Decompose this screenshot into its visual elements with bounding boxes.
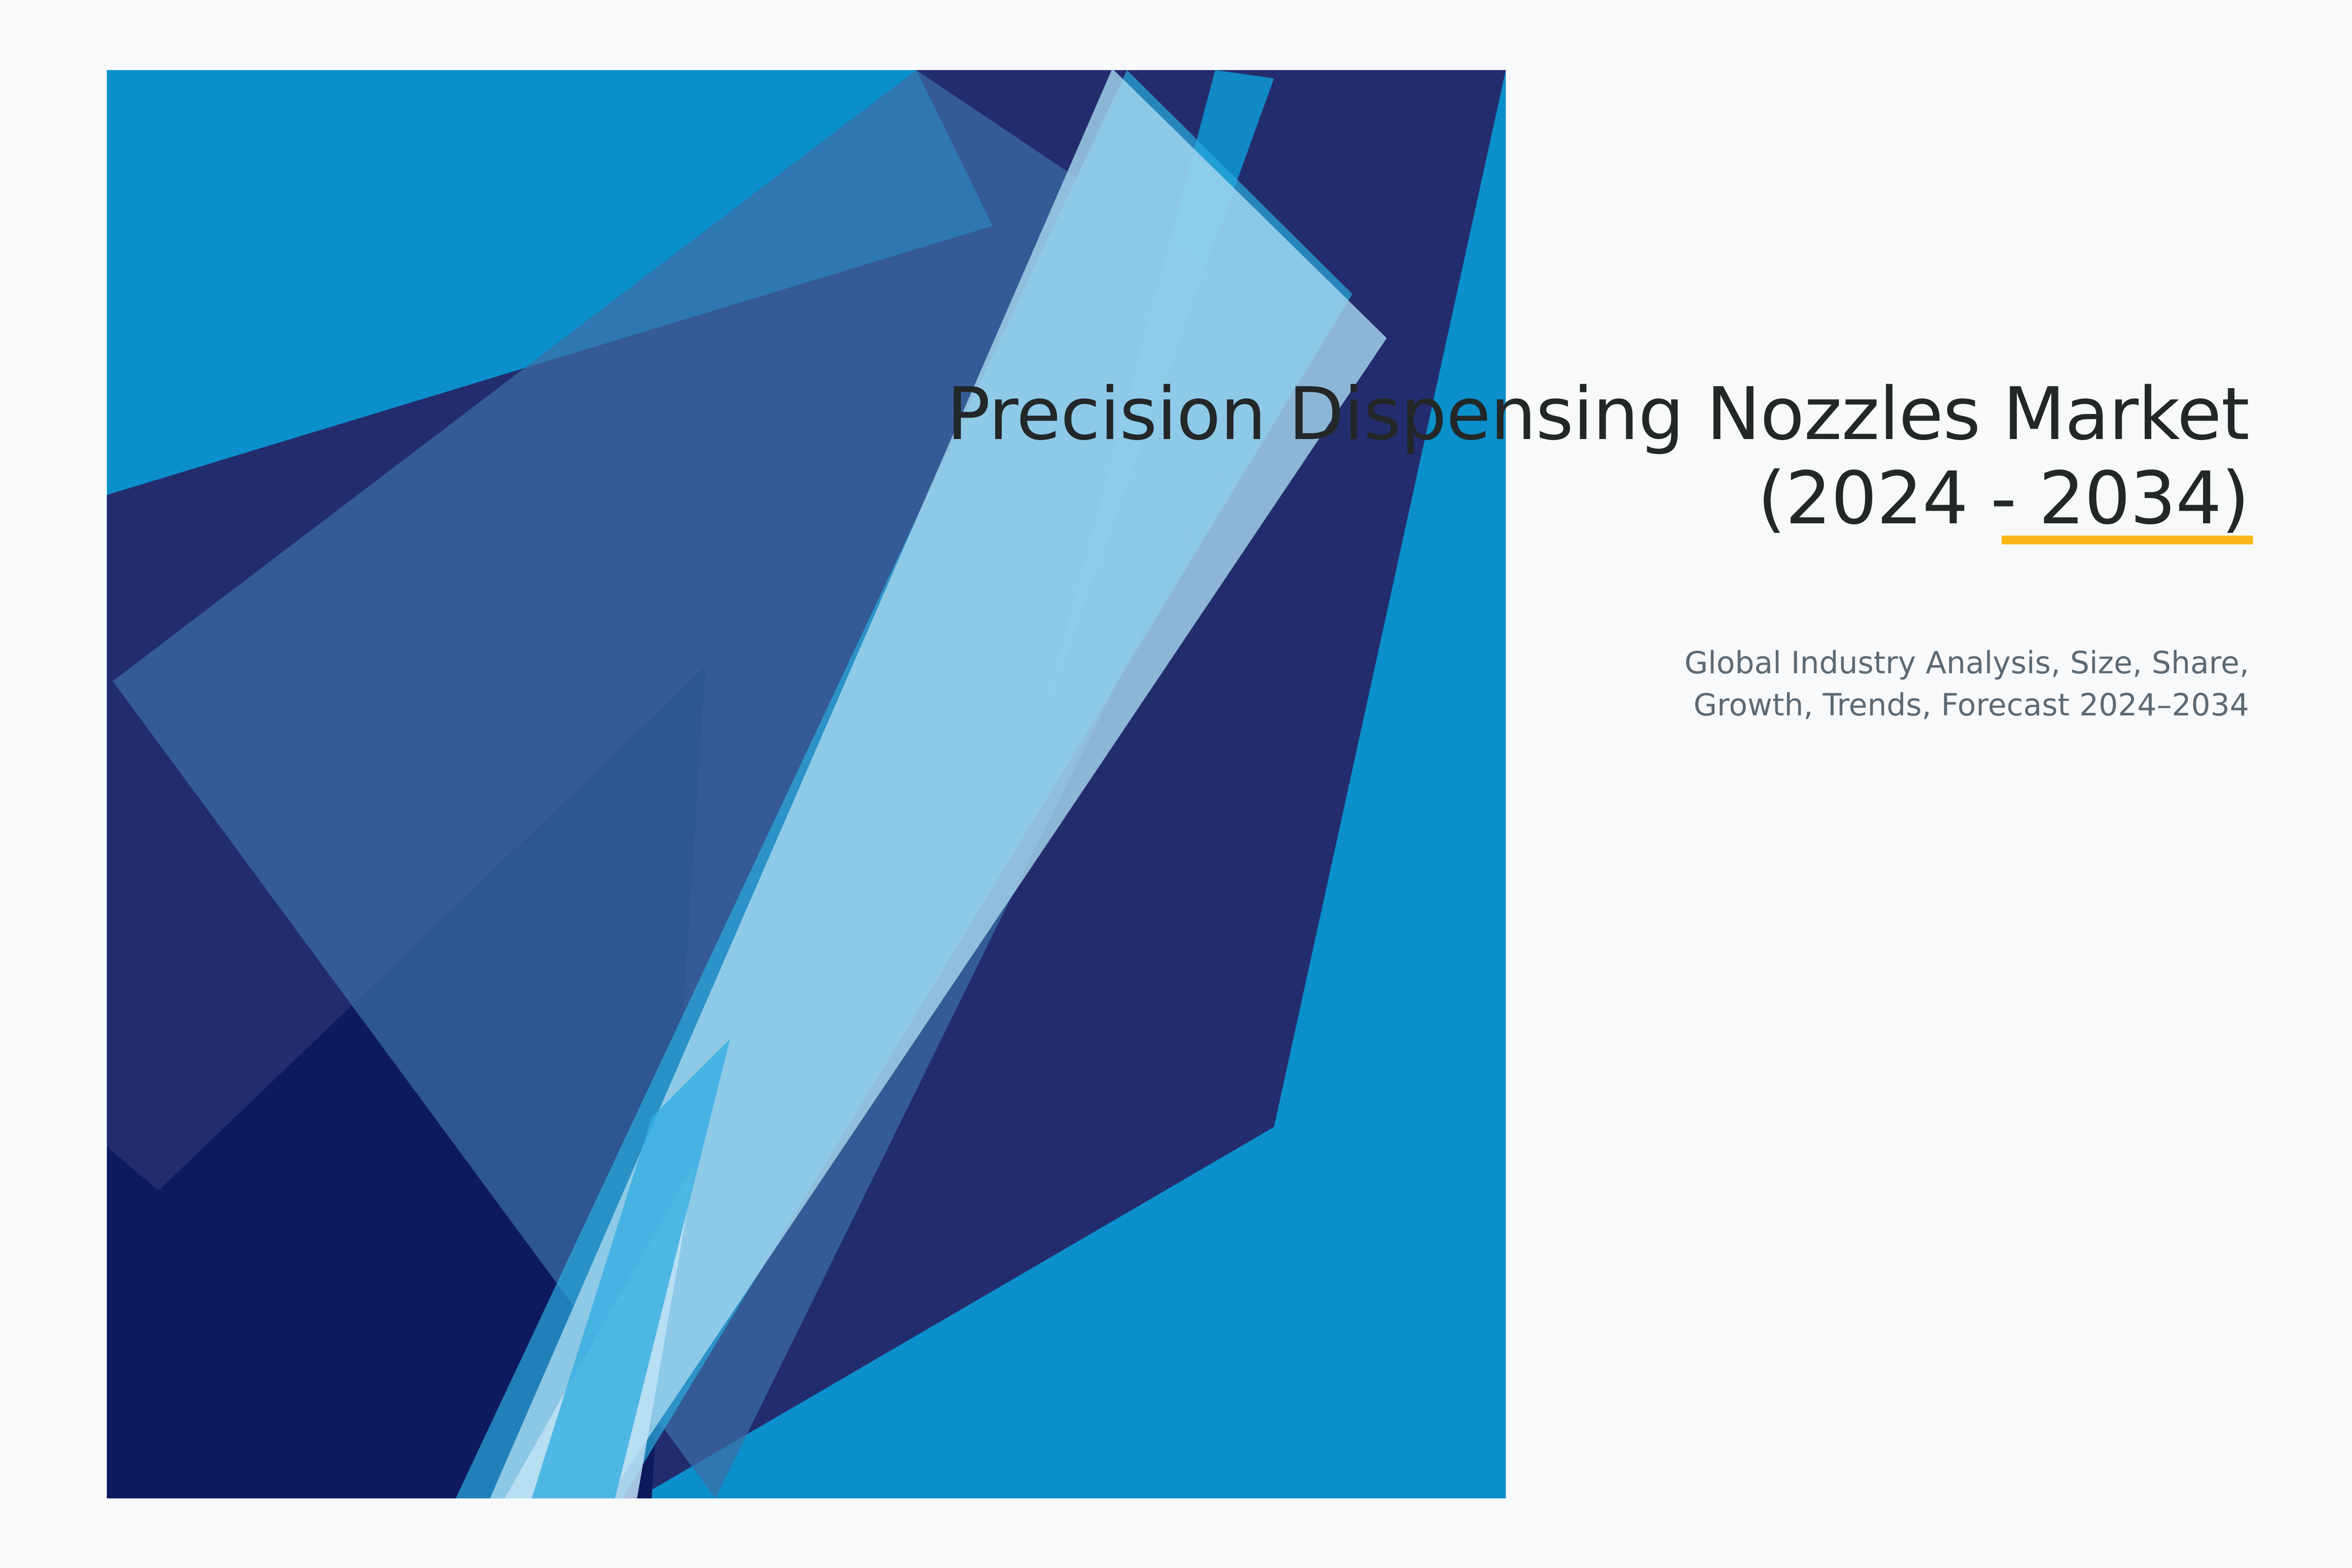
shape-steel-blue-overlay bbox=[113, 70, 1294, 1498]
shape-pale-blue-overlay bbox=[490, 69, 1387, 1498]
shape-sky-blue-edge-wedge bbox=[532, 1039, 730, 1498]
page-subtitle-line-2: Growth, Trends, Forecast 2024–2034 bbox=[1693, 687, 2249, 723]
shape-deep-navy-spike bbox=[118, 666, 706, 1498]
shape-sky-blue-band bbox=[456, 70, 1352, 1498]
shape-navy-wedge bbox=[107, 70, 1506, 1498]
report-cover-slide: Precision Dispensing Nozzles Market (202… bbox=[0, 0, 2352, 1568]
abstract-geometric-cover-graphic bbox=[0, 0, 2352, 1568]
shape-pale-blue-sliver bbox=[505, 1161, 696, 1498]
artwork-svg bbox=[0, 0, 2352, 1568]
page-title: Precision Dispensing Nozzles Market (202… bbox=[784, 372, 2249, 540]
page-title-line-2: (2024 - 2034) bbox=[1758, 456, 2249, 540]
shape-deep-navy-lower-block bbox=[107, 1147, 519, 1498]
page-subtitle-line-1: Global Industry Analysis, Size, Share, bbox=[1685, 645, 2249, 681]
page-subtitle: Global Industry Analysis, Size, Share, G… bbox=[1274, 642, 2249, 726]
shape-cyan-base bbox=[107, 70, 1506, 1498]
title-block: Precision Dispensing Nozzles Market (202… bbox=[784, 372, 2249, 540]
page-title-line-1: Precision Dispensing Nozzles Market bbox=[947, 372, 2249, 456]
